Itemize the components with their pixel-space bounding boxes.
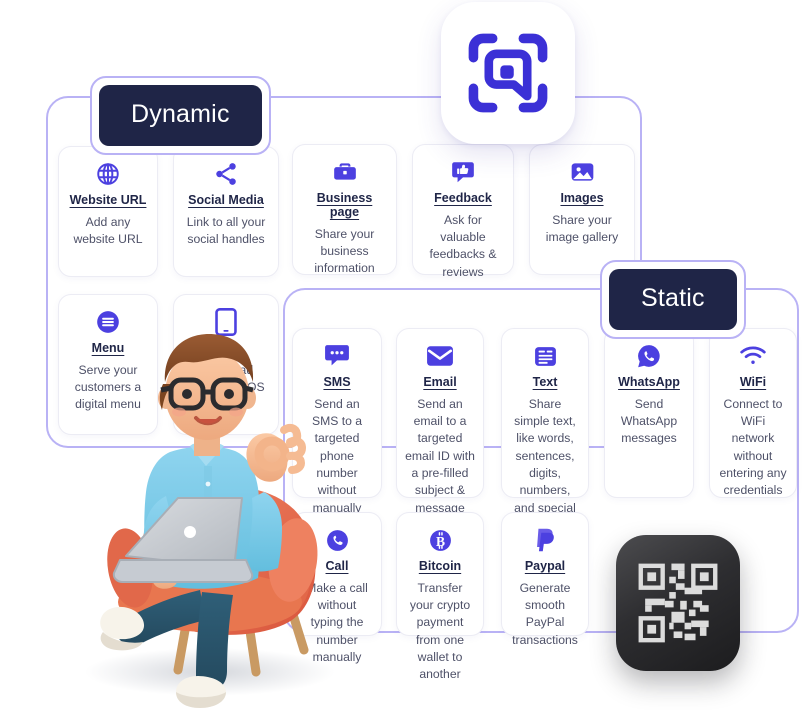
- bitcoin-icon: B: [405, 525, 475, 555]
- menu-circle-icon: [67, 307, 149, 337]
- card-title: Feedback: [421, 192, 505, 206]
- card-sms[interactable]: SMS Send an SMS to a targeted phone numb…: [292, 328, 382, 498]
- card-title: Social Media: [182, 194, 270, 208]
- card-bitcoin[interactable]: B Bitcoin Transfer your crypto payment f…: [396, 512, 484, 636]
- card-paypal[interactable]: Paypal Generate smooth PayPal transactio…: [501, 512, 589, 636]
- globe-icon: [67, 159, 149, 189]
- card-title: Images: [538, 192, 626, 206]
- card-text[interactable]: Text Share simple text, like words, sent…: [501, 328, 589, 498]
- dynamic-badge-label: Dynamic: [99, 85, 262, 146]
- card-app[interactable]: App Download Android & iOS: [173, 294, 279, 435]
- card-title: Bitcoin: [405, 560, 475, 574]
- card-description: Link to all your social handles: [182, 214, 270, 249]
- card-email[interactable]: Email Send an email to a targeted email …: [396, 328, 484, 498]
- card-call[interactable]: Call Make a call without typing the numb…: [292, 512, 382, 636]
- card-menu[interactable]: Menu Serve your customers a digital menu: [58, 294, 158, 435]
- qr-code-3d-tile: [616, 535, 740, 671]
- card-title: Email: [405, 376, 475, 390]
- card-description: Send WhatsApp messages: [613, 396, 685, 448]
- card-title: SMS: [301, 376, 373, 390]
- briefcase-icon: [301, 157, 388, 187]
- card-title: Business page: [301, 192, 388, 220]
- card-social-media[interactable]: Social Media Link to all your social han…: [173, 146, 279, 277]
- card-business-page[interactable]: Business page Share your business inform…: [292, 144, 397, 275]
- card-title: Call: [301, 560, 373, 574]
- sms-bubble-icon: [301, 341, 373, 371]
- text-doc-icon: [510, 341, 580, 371]
- card-description: Ask for valuable feedbacks & reviews: [421, 212, 505, 281]
- card-title: Menu: [67, 342, 149, 356]
- card-description: Download Android & iOS: [182, 362, 270, 397]
- card-title: Paypal: [510, 560, 580, 574]
- card-images[interactable]: Images Share your image gallery: [529, 144, 635, 275]
- paypal-icon: [510, 525, 580, 555]
- static-badge: Static: [600, 260, 746, 339]
- share-icon: [182, 159, 270, 189]
- card-title: Text: [510, 376, 580, 390]
- card-title: WhatsApp: [613, 376, 685, 390]
- card-title: App: [182, 342, 270, 356]
- card-feedback[interactable]: Feedback Ask for valuable feedbacks & re…: [412, 144, 514, 275]
- phone-call-icon: [301, 525, 373, 555]
- card-whatsapp[interactable]: WhatsApp Send WhatsApp messages: [604, 328, 694, 498]
- card-description: Transfer your crypto payment from one wa…: [405, 580, 475, 684]
- static-badge-label: Static: [609, 269, 737, 330]
- card-description: Share your image gallery: [538, 212, 626, 247]
- card-website-url[interactable]: Website URL Add any website URL: [58, 146, 158, 277]
- whatsapp-icon: [613, 341, 685, 371]
- envelope-icon: [405, 341, 475, 371]
- brand-logo-tile: [441, 2, 575, 144]
- qr-code-icon: [632, 557, 724, 649]
- mobile-app-icon: [182, 307, 270, 337]
- card-description: Generate smooth PayPal transactions: [510, 580, 580, 649]
- card-title: Website URL: [67, 194, 149, 208]
- illustration-stage: Dynamic Static Website URL Add any websi…: [0, 0, 810, 720]
- thumbs-up-bubble-icon: [421, 157, 505, 187]
- card-description: Add any website URL: [67, 214, 149, 249]
- wifi-icon: [718, 341, 788, 371]
- card-description: Send an email to a targeted email ID wit…: [405, 396, 475, 517]
- card-description: Make a call without typing the number ma…: [301, 580, 373, 667]
- card-description: Serve your customers a digital menu: [67, 362, 149, 414]
- image-icon: [538, 157, 626, 187]
- svg-text:B: B: [435, 533, 444, 548]
- card-description: Share your business information: [301, 226, 388, 278]
- qr-scan-chat-logo-icon: [460, 25, 556, 121]
- dynamic-badge: Dynamic: [90, 76, 271, 155]
- card-description: Connect to WiFi network without entering…: [718, 396, 788, 500]
- card-title: WiFi: [718, 376, 788, 390]
- card-wifi[interactable]: WiFi Connect to WiFi network without ent…: [709, 328, 797, 498]
